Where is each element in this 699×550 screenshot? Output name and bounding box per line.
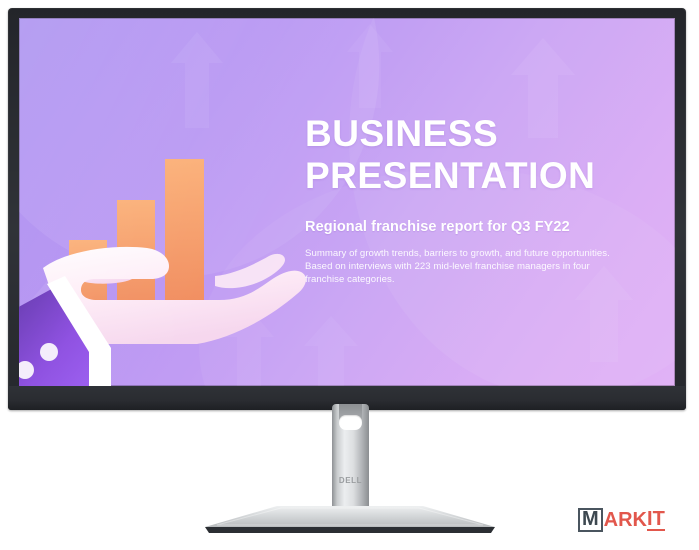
product-photo-canvas: BUSINESS PRESENTATION Regional franchise… <box>0 0 699 550</box>
slide-text-block: BUSINESS PRESENTATION Regional franchise… <box>305 113 657 286</box>
monitor-stand-neck: DELL <box>332 404 369 508</box>
slide-body-text: Summary of growth trends, barriers to gr… <box>305 247 657 286</box>
monitor-chassis: BUSINESS PRESENTATION Regional franchise… <box>8 8 686 410</box>
dell-logo-text: DELL <box>332 476 369 485</box>
title-line-2: PRESENTATION <box>305 155 595 196</box>
decorative-up-arrow-icon <box>347 24 393 108</box>
hand-holding-bar-chart-illustration <box>19 18 309 386</box>
watermark-boxed-letter: M <box>578 508 603 532</box>
monitor-screen[interactable]: BUSINESS PRESENTATION Regional franchise… <box>19 18 675 386</box>
sleeve-button <box>40 343 58 361</box>
page-title: BUSINESS PRESENTATION <box>305 113 657 197</box>
markit-watermark-logo: MARKIT <box>578 508 665 532</box>
monitor-stand-base <box>205 506 495 534</box>
cable-management-hole <box>339 415 362 430</box>
bar-3 <box>165 159 204 318</box>
watermark-mid-text: ARK <box>604 510 647 530</box>
body-line-2: Based on interviews with 223 mid-level f… <box>305 260 657 273</box>
title-line-1: BUSINESS <box>305 113 498 154</box>
watermark-underlined-text: IT <box>647 509 665 531</box>
body-line-3: franchise categories. <box>305 273 657 286</box>
body-line-1: Summary of growth trends, barriers to gr… <box>305 247 657 260</box>
decorative-up-arrow-icon <box>304 316 358 386</box>
slide-subtitle: Regional franchise report for Q3 FY22 <box>305 219 657 235</box>
